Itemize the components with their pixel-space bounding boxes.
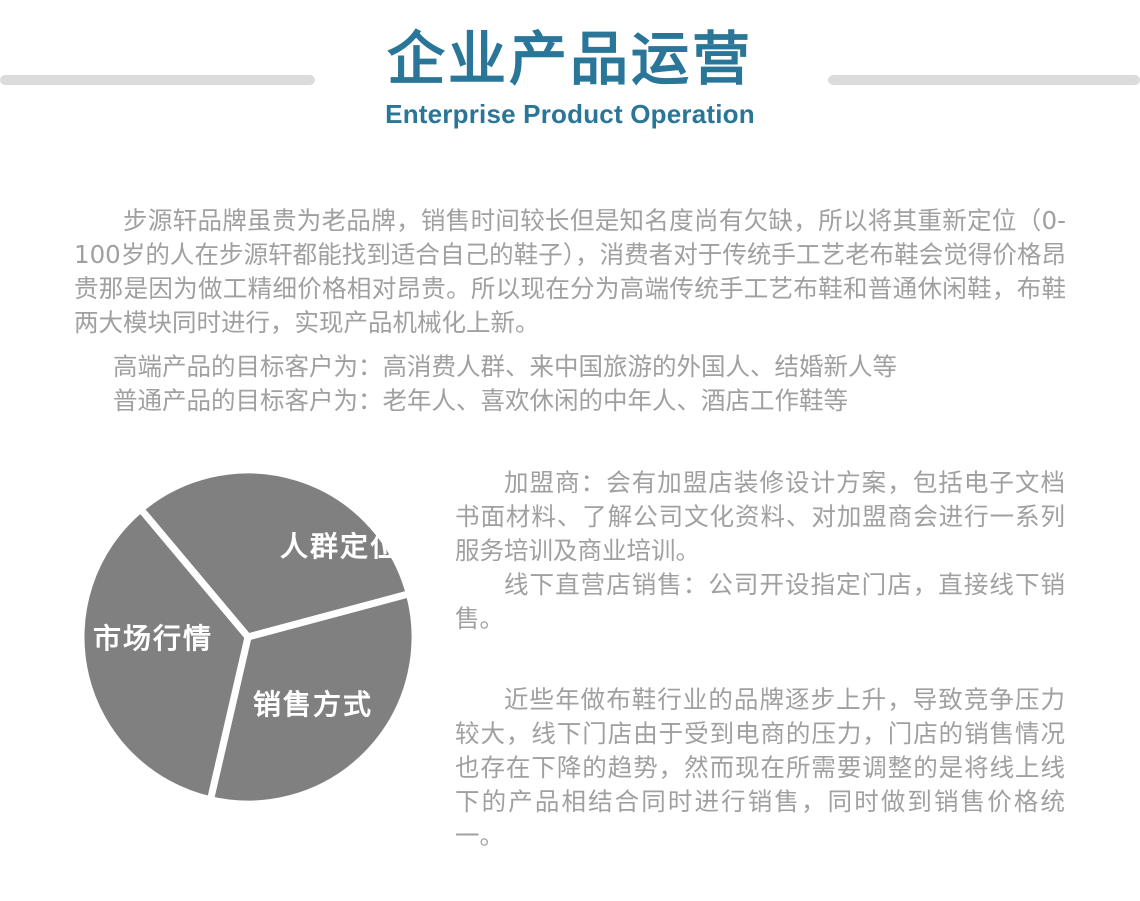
pie-label-shichang-hangqing: 市场行情 [93, 622, 213, 655]
pie-chart-svg: 人群定位 市场行情 销售方式 [75, 458, 425, 818]
market-trend-paragraph: 近些年做布鞋行业的品牌逐步上升，导致竞争压力较大，线下门店由于受到电商的压力，门… [455, 683, 1065, 853]
target-customers-premium: 高端产品的目标客户为：高消费人群、来中国旅游的外国人、结婚新人等 [113, 350, 1073, 384]
intro-paragraph-block: 步源轩品牌虽贵为老品牌，销售时间较长但是知名度尚有欠缺，所以将其重新定位（0-1… [74, 204, 1066, 340]
page-header: 企业产品运营 Enterprise Product Operation [0, 0, 1140, 175]
target-customers-standard: 普通产品的目标客户为：老年人、喜欢休闲的中年人、酒店工作鞋等 [113, 384, 1073, 418]
pie-chart: 人群定位 市场行情 销售方式 [75, 458, 425, 818]
right-column-top: 加盟商：会有加盟店装修设计方案，包括电子文档书面材料、了解公司文化资料、对加盟商… [455, 466, 1065, 636]
pie-label-renqun-dingwei: 人群定位 [280, 530, 400, 563]
pie-label-xiaoshou-fangshi: 销售方式 [253, 688, 373, 721]
title-block: 企业产品运营 Enterprise Product Operation [0, 26, 1140, 130]
intro-paragraph: 步源轩品牌虽贵为老品牌，销售时间较长但是知名度尚有欠缺，所以将其重新定位（0-1… [74, 204, 1066, 340]
page-subtitle: Enterprise Product Operation [0, 99, 1140, 130]
offline-store-paragraph: 线下直营店销售：公司开设指定门店，直接线下销售。 [455, 568, 1065, 636]
franchise-paragraph: 加盟商：会有加盟店装修设计方案，包括电子文档书面材料、了解公司文化资料、对加盟商… [455, 466, 1065, 568]
right-column-bottom: 近些年做布鞋行业的品牌逐步上升，导致竞争压力较大，线下门店由于受到电商的压力，门… [455, 683, 1065, 853]
target-customers-block: 高端产品的目标客户为：高消费人群、来中国旅游的外国人、结婚新人等 普通产品的目标… [113, 350, 1073, 418]
page-title: 企业产品运营 [0, 26, 1140, 93]
